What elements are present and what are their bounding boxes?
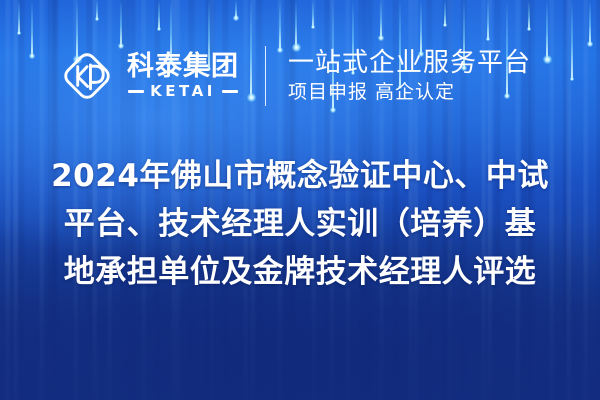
tagline-block: 一站式企业服务平台 项目申报 高企认定 bbox=[288, 49, 531, 104]
logo-name-cn: 科泰集团 bbox=[127, 53, 239, 81]
light-trail-21 bbox=[487, 0, 489, 40]
logo-rule-left bbox=[128, 90, 144, 93]
tagline-primary: 一站式企业服务平台 bbox=[288, 49, 531, 79]
light-trail-dot-13 bbox=[311, 25, 315, 29]
light-trail-6 bbox=[158, 0, 160, 30]
header-divider bbox=[265, 46, 266, 106]
logo-rule-right bbox=[222, 90, 238, 93]
logo-name-en-row: KETAI bbox=[127, 84, 239, 99]
light-trail-dot-6 bbox=[157, 27, 161, 31]
ketai-diamond-monogram-icon bbox=[58, 47, 116, 105]
light-trail-dot-19 bbox=[443, 23, 447, 27]
banner-header: 科泰集团 KETAI 一站式企业服务平台 项目申报 高企认定 bbox=[0, 38, 600, 114]
tagline-secondary: 项目申报 高企认定 bbox=[288, 82, 531, 104]
light-trail-13 bbox=[312, 0, 314, 28]
light-trail-dot-1 bbox=[17, 31, 21, 35]
title-line-3: 地承担单位及金牌技术经理人评选 bbox=[26, 248, 574, 296]
logo-wordmark: 科泰集团 KETAI bbox=[127, 53, 239, 98]
page-title: 2024年佛山市概念验证中心、中试 平台、技术经理人实训（培养）基 地承担单位及… bbox=[0, 152, 600, 296]
light-trail-dot-9 bbox=[233, 15, 239, 21]
light-trail-dot-4 bbox=[95, 17, 99, 21]
title-line-2: 平台、技术经理人实训（培养）基 bbox=[26, 200, 574, 248]
light-trail-dot-23 bbox=[527, 27, 531, 31]
logo-name-en: KETAI bbox=[150, 84, 216, 99]
company-logo: 科泰集团 KETAI bbox=[58, 47, 239, 105]
title-line-1: 2024年佛山市概念验证中心、中试 bbox=[26, 152, 574, 200]
light-trail-1 bbox=[18, 0, 20, 34]
light-trail-23 bbox=[528, 0, 530, 30]
promo-banner: 科泰集团 KETAI 一站式企业服务平台 项目申报 高企认定 2024年佛山市概… bbox=[0, 0, 600, 400]
light-trail-16 bbox=[380, 0, 382, 38]
